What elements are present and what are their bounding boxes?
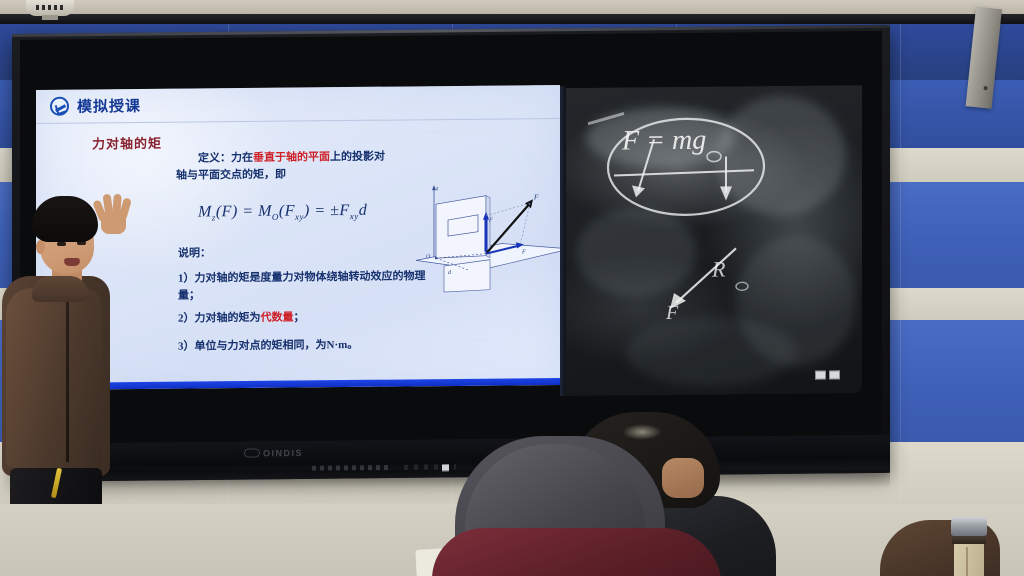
definition-highlight: 垂直于轴的平面 (253, 151, 330, 164)
note-1-text: 力对轴的矩是度量力对物体绕轴转动效应的物理量； (178, 270, 426, 301)
classroom-scene: OINDIS 模拟授课 力对轴的矩 定义：力在垂直于轴的平面上的投影对 轴与平面… (0, 0, 1024, 576)
formula-arg2b: ) (304, 202, 310, 219)
definition-mid: 上的投影对 (330, 151, 385, 164)
board-button-1[interactable] (815, 371, 826, 380)
student-a-coat (432, 528, 722, 576)
diagram-label-fxy: F (521, 249, 526, 255)
formula-eq2: = (314, 202, 325, 219)
student-b-face (662, 458, 704, 498)
bracket-screw (983, 86, 987, 90)
presenter-collar (32, 276, 88, 302)
student-b-hair-highlight (622, 424, 662, 440)
chalkboard-left-edge (560, 86, 566, 396)
diagram-label-z: z (435, 186, 439, 192)
notes-label: 说明： (178, 244, 211, 260)
slide-section-title: 力对轴的矩 (92, 133, 162, 153)
formula-f3: F (339, 202, 349, 219)
note-2-number: 2） (178, 312, 195, 324)
presenter-mouth (64, 258, 80, 266)
definition-lead: 定义：力在 (198, 152, 253, 165)
slide-header: 模拟授课 (36, 85, 560, 124)
presenter-ear (36, 240, 45, 254)
chalk-text-f-mg: F = mg (621, 125, 706, 157)
note-3-text-pre: 单位与力对点的矩相同，为 (195, 339, 327, 352)
presenter-palm (101, 212, 126, 234)
moment-about-axis-diagram: z F F F O (410, 181, 560, 295)
wall-tile-seam (900, 24, 901, 508)
slide-note-3: 3）单位与力对点的矩相同，为N·m。 (178, 336, 433, 355)
bottle-neck-ring (952, 536, 986, 544)
brand-text: OINDIS (263, 447, 303, 457)
slide-header-title: 模拟授课 (77, 95, 141, 117)
note-3-number: 3） (178, 340, 195, 352)
formula-sub-xy2: xy (350, 211, 359, 221)
diagram-label-f: F (533, 193, 539, 201)
rounded-rect-logo-icon (244, 448, 260, 457)
smoke-detector-icon (26, 0, 74, 16)
slide-note-2: 2）力对轴的矩为代数量； (178, 308, 433, 327)
definition-line2: 轴与平面交点的矩，即 (176, 169, 286, 182)
diagram-label-o: O (426, 254, 431, 260)
bottle-cap (951, 517, 987, 536)
slide-note-1: 1）力对轴的矩是度量力对物体绕轴转动效应的物理量； (178, 268, 433, 303)
chalk-text-lower-2: F (665, 302, 679, 324)
note-3-unit: N·m (327, 339, 348, 351)
moment-formula: Mz(F) = MO(Fxy) = ±Fxyd (198, 202, 367, 223)
note-2-text-post: ； (294, 311, 305, 323)
display-brand-logo: OINDIS (244, 445, 364, 459)
formula-arg2: (F (279, 203, 295, 220)
definition-block: 定义：力在垂直于轴的平面上的投影对 轴与平面交点的矩，即 (176, 148, 436, 185)
bottle-reflection (966, 547, 968, 576)
formula-m2: M (258, 203, 272, 220)
chalkboard-control-buttons[interactable] (815, 370, 840, 379)
formula-m1: M (198, 203, 212, 220)
board-shadow (12, 470, 890, 488)
chalkboard[interactable]: F = mg R F (566, 85, 862, 396)
note-3-text-post: 。 (347, 339, 358, 351)
presenter-hair (32, 196, 98, 242)
bottle-body (954, 543, 984, 576)
formula-arg-f: (F) (216, 203, 238, 220)
presenter-jacket-zip (66, 292, 69, 462)
detector-vents (36, 5, 64, 10)
ceiling-rail (0, 14, 1024, 24)
note-2-highlight: 代数量 (261, 312, 294, 324)
note-2-text-pre: 力对轴的矩为 (195, 312, 261, 325)
formula-sub-xy: xy (295, 212, 304, 222)
board-button-2[interactable] (829, 370, 840, 379)
presenter-hand (96, 194, 130, 234)
chalk-text-lower-1: R (711, 256, 726, 281)
formula-d: d (359, 202, 368, 219)
glass-water-bottle (950, 517, 988, 576)
presenter-jacket (6, 288, 102, 468)
chalk-writing: F = mg R F (566, 85, 862, 396)
formula-eq1: = (242, 203, 253, 220)
circular-check-swoosh-icon (50, 97, 69, 116)
diagram-label-fz: F (488, 218, 493, 224)
note-1-number: 1） (178, 272, 195, 284)
detector-stem (42, 15, 58, 20)
formula-sub-o: O (272, 212, 279, 222)
diagram-label-xy: xy (411, 275, 417, 280)
